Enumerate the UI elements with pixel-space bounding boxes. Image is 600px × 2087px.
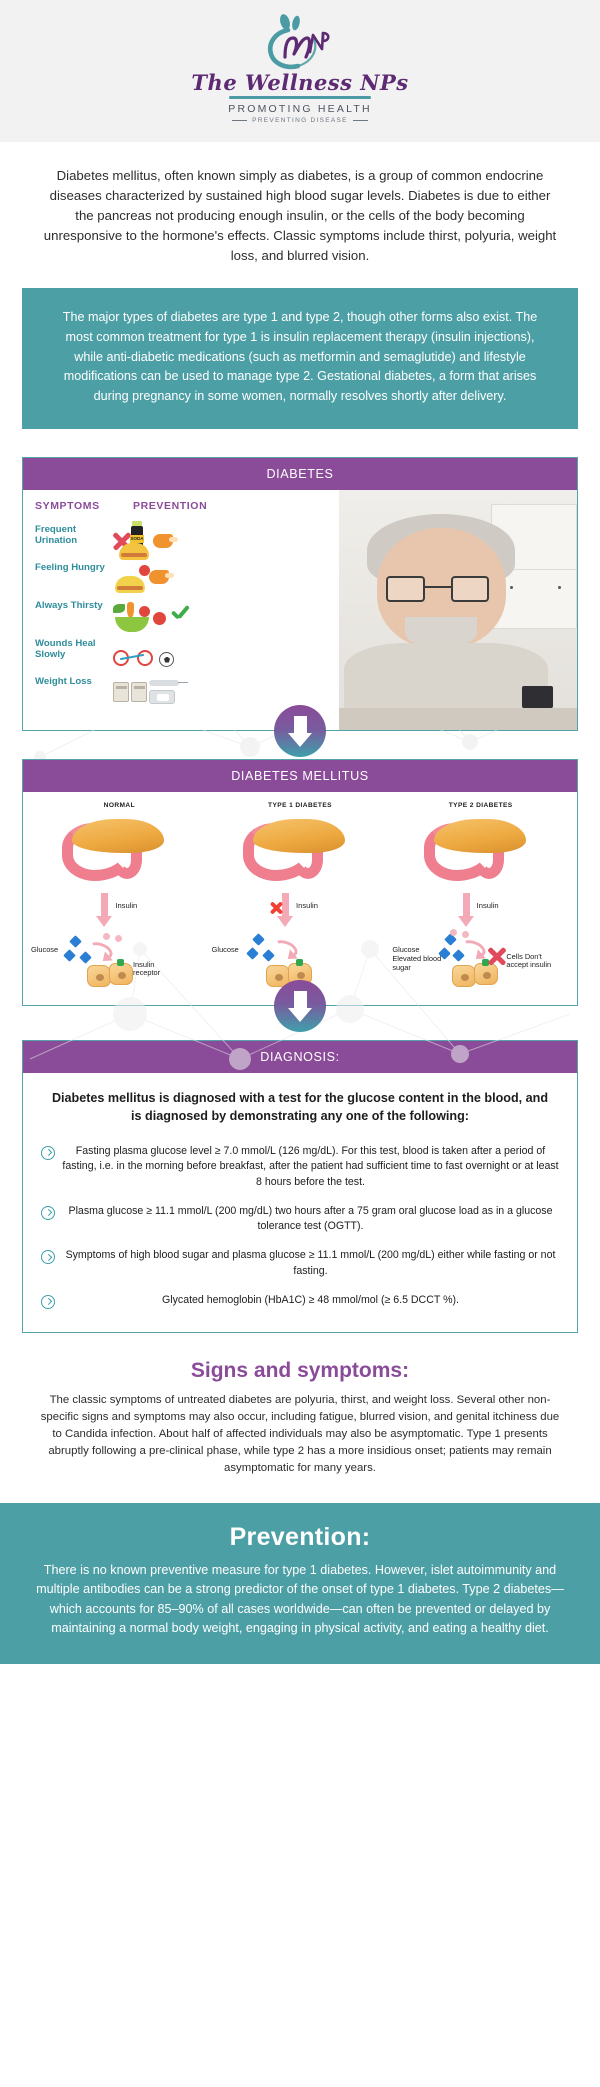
- symptom-rows: Frequent Urination SODA Feeling Hungry: [35, 524, 339, 714]
- pancreas-organ-icon: [237, 815, 363, 889]
- symptom-label: Wounds Heal Slowly: [35, 638, 109, 661]
- diagnosis-card: DIAGNOSIS: Diabetes mellitus is diagnose…: [22, 1040, 578, 1333]
- insulin-label: Insulin: [477, 901, 499, 910]
- column-title: NORMAL: [29, 802, 210, 809]
- bicycle-exercise-icon: [109, 638, 197, 674]
- dash-right-icon: [353, 120, 368, 121]
- cells-reject-label: Cells Don't accept insulin: [506, 953, 552, 971]
- insulin-label: Insulin: [296, 901, 318, 910]
- symptom-label: Frequent Urination: [35, 524, 109, 547]
- glucose-label: Glucose: [212, 945, 239, 954]
- pancreas-diagram: NORMAL Insulin Glucose: [23, 792, 577, 1005]
- insulin-arrow-icon: [463, 893, 470, 917]
- chevron-right-circle-icon: [41, 1295, 55, 1309]
- sp-column-headings: SYMPTOMS PREVENTION: [35, 500, 339, 512]
- list-item: Symptoms of high blood sugar and plasma …: [39, 1241, 561, 1286]
- no-soda-junk-food-icon: SODA: [109, 524, 197, 560]
- types-of-diabetes-box: The major types of diabetes are type 1 a…: [22, 288, 578, 428]
- symptoms-heading: SYMPTOMS: [35, 500, 107, 512]
- diagnosis-criteria-list: Fasting plasma glucose level ≥ 7.0 mmol/…: [23, 1137, 577, 1332]
- list-item: Fasting plasma glucose level ≥ 7.0 mmol/…: [39, 1137, 561, 1197]
- blocked-cell-x-icon: [486, 945, 502, 961]
- pancreas-column-normal: NORMAL Insulin Glucose: [29, 802, 210, 993]
- medication-scale-icon: [109, 676, 197, 712]
- list-item: Glycated hemoglobin (HbA1C) ≥ 48 mmol/mo…: [39, 1286, 561, 1316]
- insulin-arrow-icon: [101, 893, 108, 917]
- diabetes-card-region: DIABETES SYMPTOMS PREVENTION Frequent Ur…: [0, 457, 600, 731]
- pancreas-organ-icon: [56, 815, 182, 889]
- dash-left-icon: [232, 120, 247, 121]
- logo: The Wellness NPs PROMOTING HEALTH PREVEN…: [191, 14, 408, 124]
- down-arrow-icon: [274, 705, 326, 757]
- chevron-right-circle-icon: [41, 1146, 55, 1160]
- patient-photo: [339, 490, 577, 730]
- symptoms-prevention-panel: SYMPTOMS PREVENTION Frequent Urination S…: [23, 490, 577, 730]
- fruit-veg-check-icon: [109, 600, 197, 636]
- pancreas-columns: NORMAL Insulin Glucose: [29, 802, 571, 993]
- diagnosis-criterion: Symptoms of high blood sugar and plasma …: [62, 1248, 559, 1279]
- diagnosis-lead: Diabetes mellitus is diagnosed with a te…: [23, 1073, 577, 1138]
- logo-underline: [229, 96, 371, 99]
- symptom-label: Always Thirsty: [35, 600, 109, 612]
- insulin-arrow-group: Insulin: [210, 891, 391, 931]
- signs-and-symptoms-body: The classic symptoms of untreated diabet…: [0, 1392, 600, 1504]
- diagnosis-card-header: DIAGNOSIS:: [23, 1041, 577, 1073]
- cell-row: Glucose Insulin receptor: [29, 931, 210, 993]
- signs-and-symptoms-title: Signs and symptoms:: [0, 1333, 600, 1392]
- symptom-row: Frequent Urination SODA: [35, 524, 339, 562]
- column-title: TYPE 1 DIABETES: [210, 802, 391, 809]
- pancreas-organ-icon: [418, 815, 544, 889]
- brand-header: The Wellness NPs PROMOTING HEALTH PREVEN…: [0, 0, 600, 142]
- prevention-body: There is no known preventive measure for…: [34, 1561, 566, 1638]
- insulin-arrow-group: Insulin: [390, 891, 571, 931]
- logo-tagline-secondary: PREVENTING DISEASE: [252, 117, 348, 124]
- pancreas-column-type2: TYPE 2 DIABETES Insulin Glucose Elevated…: [390, 802, 571, 993]
- symptom-row: Feeling Hungry: [35, 562, 339, 600]
- blocked-insulin-x-icon: [269, 900, 284, 915]
- insulin-label: Insulin: [115, 901, 137, 910]
- prevention-heading: PREVENTION: [133, 500, 207, 512]
- diagnosis-criterion: Fasting plasma glucose level ≥ 7.0 mmol/…: [62, 1144, 559, 1190]
- mellitus-card: DIABETES MELLITUS NORMAL Insulin Glucose: [22, 759, 578, 1006]
- glucose-label: Glucose: [31, 945, 58, 954]
- diagnosis-criterion: Plasma glucose ≥ 11.1 mmol/L (200 mg/dL)…: [62, 1204, 559, 1235]
- cell-row: Glucose Elevated blood sugar Cells Don't…: [390, 931, 571, 993]
- diabetes-card-header: DIABETES: [23, 458, 577, 490]
- chevron-right-circle-icon: [41, 1250, 55, 1264]
- prevention-title: Prevention:: [34, 1523, 566, 1552]
- mellitus-card-header: DIABETES MELLITUS: [23, 760, 577, 792]
- list-item: Plasma glucose ≥ 11.1 mmol/L (200 mg/dL)…: [39, 1197, 561, 1242]
- healthy-vegetables-icon: [109, 562, 197, 598]
- symptoms-prevention-left: SYMPTOMS PREVENTION Frequent Urination S…: [23, 490, 339, 730]
- down-arrow-icon: [274, 980, 326, 1032]
- logo-script-name: The Wellness NPs: [191, 72, 408, 93]
- logo-tagline-secondary-row: PREVENTING DISEASE: [191, 117, 408, 124]
- glucose-label: Glucose Elevated blood sugar: [392, 945, 446, 973]
- logo-tagline-primary: PROMOTING HEALTH: [191, 103, 408, 115]
- column-title: TYPE 2 DIABETES: [390, 802, 571, 809]
- diabetes-card: DIABETES SYMPTOMS PREVENTION Frequent Ur…: [22, 457, 578, 731]
- symptom-row: Wounds Heal Slowly: [35, 638, 339, 676]
- chevron-right-circle-icon: [41, 1206, 55, 1220]
- symptom-row: Always Thirsty: [35, 600, 339, 638]
- symptom-label: Feeling Hungry: [35, 562, 109, 574]
- pancreas-column-type1: TYPE 1 DIABETES Insulin Glucose: [210, 802, 391, 993]
- prevention-section: Prevention: There is no known preventive…: [0, 1503, 600, 1664]
- receptor-label: Insulin receptor: [133, 961, 183, 979]
- mellitus-card-region: DIABETES MELLITUS NORMAL Insulin Glucose: [0, 759, 600, 1006]
- diagnosis-criterion: Glycated hemoglobin (HbA1C) ≥ 48 mmol/mo…: [62, 1293, 559, 1308]
- intro-paragraph: Diabetes mellitus, often known simply as…: [0, 142, 600, 288]
- diagnosis-card-body: Diabetes mellitus is diagnosed with a te…: [23, 1073, 577, 1332]
- insulin-arrow-group: Insulin: [29, 891, 210, 931]
- symptom-label: Weight Loss: [35, 676, 109, 688]
- logo-mark-icon: [244, 14, 356, 76]
